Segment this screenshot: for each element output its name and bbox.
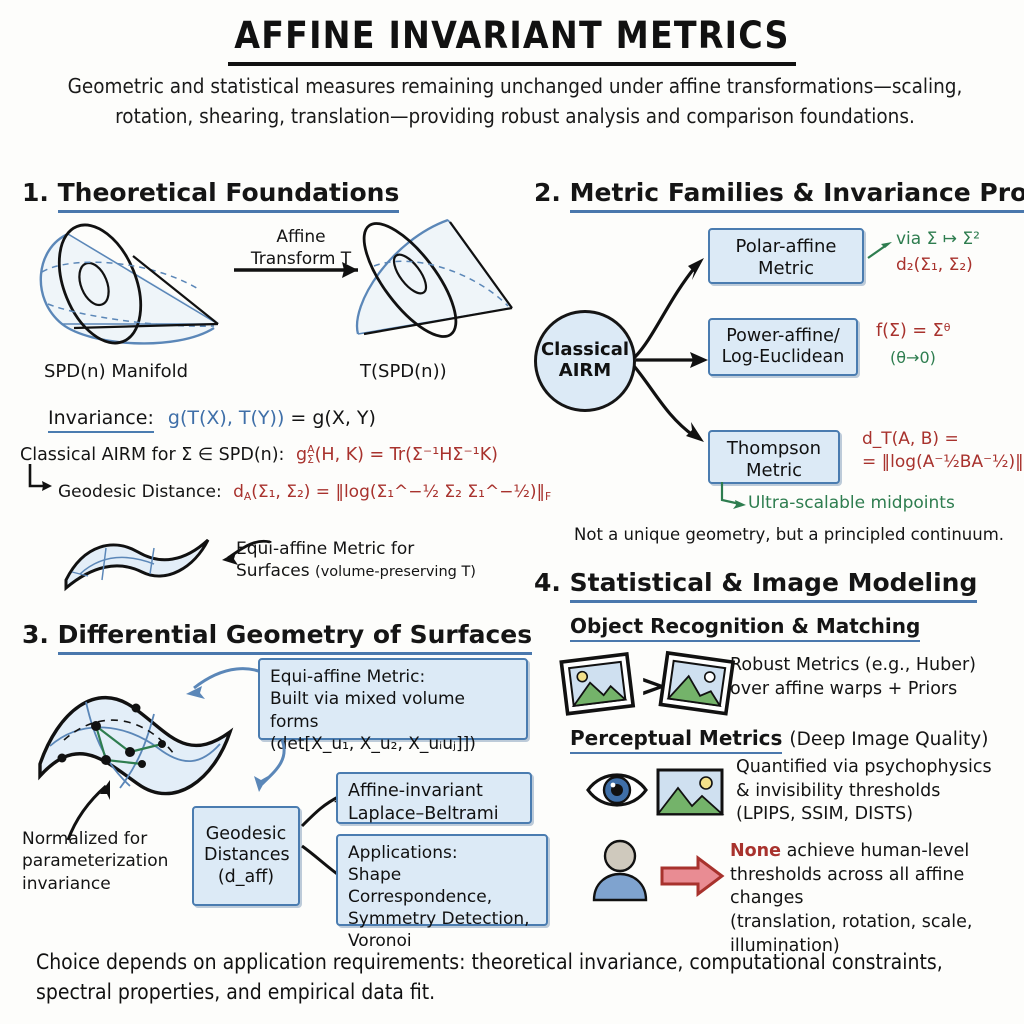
section-2-title: Metric Families & Invariance Properties (570, 178, 1024, 213)
invariance-formula-lhs: g(T(X), T(Y)) (168, 407, 284, 429)
section-4-title: Statistical & Image Modeling (570, 568, 978, 603)
classical-airm-node[interactable]: Classical AIRM (534, 310, 636, 412)
thompson-line2: Metric (720, 460, 828, 482)
section-2-footnote: Not a unique geometry, but a principled … (574, 524, 1004, 545)
spd-left-caption: SPD(n) Manifold (44, 360, 188, 383)
photo-icon-left (561, 654, 633, 714)
none-highlight: None (730, 841, 781, 861)
object-recognition-line1: Robust Metrics (e.g., Huber) (730, 654, 976, 678)
footer-text: Choice depends on application requiremen… (36, 948, 996, 1008)
normalized-line2: parameterization (22, 850, 168, 872)
geodesic-distances-box[interactable]: Geodesic Distances (d_aff) (192, 806, 300, 906)
polar-affine-line2: Metric (720, 258, 852, 280)
thompson-note-green: Ultra-scalable midpoints (748, 492, 955, 514)
laplace-line2: Laplace–Beltrami (348, 803, 520, 826)
invariance-line: Invariance: g(T(X), T(Y)) = g(X, Y) (48, 406, 376, 431)
infographic-canvas: AFFINE INVARIANT METRICS Geometric and s… (0, 0, 1024, 1024)
human-threshold-line1: achieve human-level (781, 841, 969, 861)
equiaffine-box-line2: Built via mixed volume forms (270, 688, 516, 733)
normalized-annotation: Normalized for parameterization invarian… (22, 828, 168, 895)
landscape-image-icon (658, 770, 722, 814)
object-recognition-subheading: Object Recognition & Matching (570, 614, 920, 638)
polar-affine-note-green: via Σ ↦ Σ² (896, 228, 980, 250)
spd-right-caption: T(SPD(n)) (360, 360, 447, 383)
perceptual-icons (586, 764, 726, 822)
invariance-formula-rhs: = g(X, Y) (290, 407, 376, 429)
invariance-label: Invariance: (48, 407, 154, 433)
section-3-number: 3. (22, 620, 49, 649)
section-3-title: Differential Geometry of Surfaces (58, 620, 533, 655)
polar-affine-line1: Polar-affine (720, 236, 852, 258)
page-title-text: AFFINE INVARIANT METRICS (228, 14, 795, 66)
photo-comparison-icons: > (552, 648, 720, 718)
geodesic-formula-norm-sub: F (545, 490, 551, 503)
thompson-note-red-line2: = ‖log(A⁻½BA⁻½)‖ (862, 452, 1024, 472)
classical-airm-line2: AIRM (541, 361, 629, 382)
equiaffine-note-line1: Equi-affine Metric for (236, 538, 476, 560)
laplace-line1: Affine-invariant (348, 780, 520, 803)
polar-affine-note-red: d₂(Σ₁, Σ₂) (896, 254, 973, 276)
metric-to-geodesic-arrow (236, 738, 296, 804)
perceptual-line2: & invisibility thresholds (736, 780, 992, 804)
equiaffine-box-line3: (det[X_u₁, X_u₂, X_uᵢuⱼ]]) (270, 733, 516, 755)
geodesic-box-line2: Distances (204, 845, 288, 866)
polar-affine-note-arrow (866, 240, 896, 262)
geodesic-line: Geodesic Distance: dA(Σ₁, Σ₂) = ‖log(Σ₁^… (58, 481, 551, 504)
object-recognition-line2: over affine warps + Priors (730, 678, 976, 702)
page-title: AFFINE INVARIANT METRICS (0, 14, 1024, 66)
human-threshold-icons (586, 838, 726, 910)
power-affine-note-green: (θ→0) (890, 348, 936, 369)
power-affine-line1: Power-affine/ (720, 326, 846, 347)
equiaffine-surface-patch (58, 528, 218, 600)
object-recognition-text: Robust Metrics (e.g., Huber) over affine… (730, 654, 976, 701)
equiaffine-box-line1: Equi-affine Metric: (270, 666, 516, 688)
geodesic-label: Geodesic Distance: (58, 482, 222, 502)
classical-airm-line1: Classical (541, 340, 629, 361)
equiaffine-note: Equi-affine Metric for Surfaces (volume-… (236, 538, 476, 582)
power-affine-note-red: f(Σ) = Σθ (876, 320, 950, 343)
perceptual-metrics-note: (Deep Image Quality) (789, 729, 988, 750)
airm-formula-g: g (296, 445, 307, 465)
perceptual-metrics-subheading: Perceptual Metrics (Deep Image Quality) (570, 726, 988, 750)
applications-line1: Applications: (348, 842, 536, 864)
power-affine-line2: Log-Euclidean (720, 347, 846, 368)
section-2-number: 2. (534, 178, 561, 207)
eye-icon (588, 775, 646, 805)
section-4-number: 4. (534, 568, 561, 597)
airm-line: Classical AIRM for Σ ∈ SPD(n): g A Σ (H,… (20, 444, 498, 467)
airm-label: Classical AIRM for Σ ∈ SPD(n): (20, 445, 284, 465)
power-affine-note-red-sup: θ (944, 321, 951, 334)
polar-affine-metric-box[interactable]: Polar-affine Metric (708, 228, 864, 284)
section-1-heading: 1. Theoretical Foundations (22, 178, 399, 207)
applications-box[interactable]: Applications: Shape Correspondence, Symm… (336, 834, 548, 926)
page-subtitle: Geometric and statistical measures remai… (30, 72, 1000, 131)
human-threshold-line2: thresholds across all affine changes (730, 864, 1024, 911)
geodesic-formula-d: d (233, 482, 244, 502)
section-1-title: Theoretical Foundations (58, 178, 400, 213)
thompson-note-red-line1: d_T(A, B) = (862, 428, 1024, 451)
airm-formula-sub: Σ (307, 455, 314, 465)
thompson-line1: Thompson (720, 438, 828, 460)
perceptual-metrics-text: Quantified via psychophysics & invisibil… (736, 756, 992, 827)
photo-icon-right (660, 653, 733, 714)
airm-formula-rest: (H, K) = Tr(Σ⁻¹HΣ⁻¹K) (315, 445, 498, 465)
geodesic-box-line1: Geodesic (204, 824, 288, 845)
geodesic-formula-rest: (Σ₁, Σ₂) = ‖log(Σ₁^−½ Σ₂ Σ₁^−½)‖ (251, 482, 545, 502)
geodesic-elbow-arrow (26, 462, 56, 498)
applications-line2: Shape Correspondence, (348, 864, 536, 908)
equiaffine-note-paren: (volume-preserving T) (315, 564, 476, 580)
section-3-heading: 3. Differential Geometry of Surfaces (22, 620, 532, 649)
thompson-metric-box[interactable]: Thompson Metric (708, 430, 840, 484)
thompson-note-red: d_T(A, B) = = ‖log(A⁻½BA⁻½)‖∞ (862, 428, 1024, 474)
section-1-number: 1. (22, 178, 49, 207)
power-affine-log-euclidean-box[interactable]: Power-affine/ Log-Euclidean (708, 318, 858, 376)
section-4-heading: 4. Statistical & Image Modeling (534, 568, 977, 597)
spd-cone-right (348, 210, 513, 350)
normalized-line3: invariance (22, 873, 168, 895)
normalized-line1: Normalized for (22, 828, 168, 850)
perceptual-line1: Quantified via psychophysics (736, 756, 992, 780)
human-threshold-line3: (translation, rotation, scale, (730, 911, 1024, 935)
equiaffine-metric-box[interactable]: Equi-affine Metric: Built via mixed volu… (258, 658, 528, 740)
affine-invariant-laplace-beltrami-box[interactable]: Affine-invariant Laplace–Beltrami (336, 772, 532, 824)
geodesic-box-line3: (d_aff) (204, 867, 288, 888)
perceptual-line3: (LPIPS, SSIM, DISTS) (736, 803, 992, 827)
person-icon (594, 841, 646, 900)
affine-transform-label: Affine Transform T (236, 226, 366, 270)
spd-cone-left (41, 213, 220, 355)
applications-line3: Symmetry Detection, (348, 908, 536, 930)
equiaffine-note-line2: Surfaces (236, 561, 310, 581)
human-threshold-text: None achieve human-level thresholds acro… (730, 840, 1024, 958)
red-arrow-icon (662, 858, 722, 894)
section-2-heading: 2. Metric Families & Invariance Properti… (534, 178, 1024, 207)
